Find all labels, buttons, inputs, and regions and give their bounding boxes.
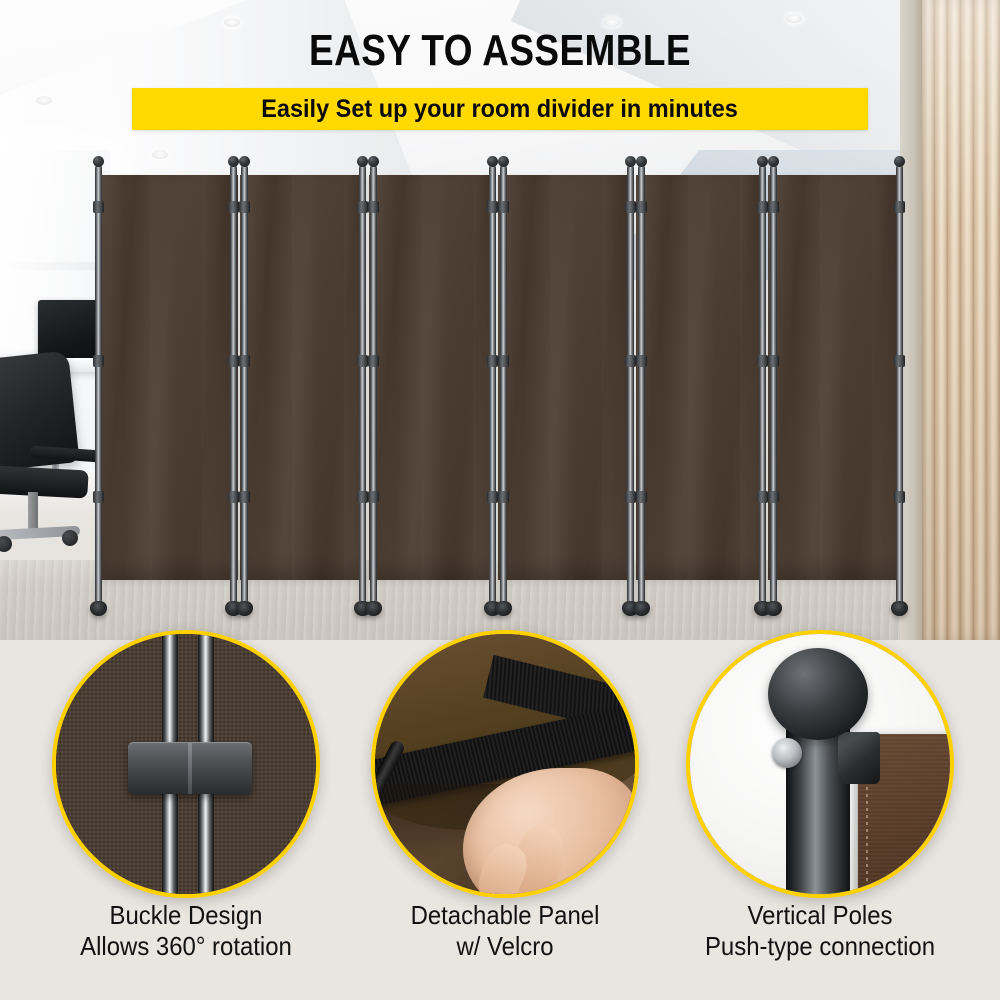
divider-pole <box>489 165 496 603</box>
pole-buckle-band <box>357 491 368 503</box>
pole-buckle-band <box>239 201 250 213</box>
pole-buckle-band <box>357 355 368 367</box>
divider-panel <box>369 175 495 580</box>
subtitle-text: Easily Set up your room divider in minut… <box>262 95 739 124</box>
pole-buckle-band <box>625 201 636 213</box>
caption-line-1: Detachable Panel <box>353 900 657 931</box>
divider-pole <box>230 165 237 603</box>
feature-inset-buckle <box>52 630 320 898</box>
pole-buckle-band <box>357 201 368 213</box>
pole-buckle-band <box>636 201 647 213</box>
pole-buckle-band <box>498 355 509 367</box>
pole-caster-foot <box>495 601 512 616</box>
feature-caption-velcro: Detachable Panel w/ Velcro <box>340 900 670 962</box>
pole-buckle-band <box>757 201 768 213</box>
divider-panel <box>98 175 238 580</box>
pole-buckle-band <box>93 491 104 503</box>
pole-buckle-band <box>768 201 779 213</box>
pole-ball-cap-icon <box>357 156 368 167</box>
pole-ball-cap-icon <box>894 156 905 167</box>
pole-buckle-band <box>228 355 239 367</box>
pole-buckle-band <box>757 491 768 503</box>
pole-caster-foot <box>90 601 107 616</box>
pole-ball-cap-icon <box>239 156 250 167</box>
pole-shaft <box>359 165 366 603</box>
pole-buckle-band <box>228 491 239 503</box>
divider-pole <box>638 165 645 603</box>
divider-pole <box>500 165 507 603</box>
pole-caster-foot <box>365 601 382 616</box>
pole-buckle-band <box>368 201 379 213</box>
pole-caster-foot <box>891 601 908 616</box>
divider-pole <box>241 165 248 603</box>
pole-shaft <box>627 165 634 603</box>
pole-caster-foot <box>633 601 650 616</box>
pole-ball-cap-icon <box>368 156 379 167</box>
pole-caster-foot <box>236 601 253 616</box>
buckle-clamp-icon <box>52 630 320 898</box>
pole-ball-cap-icon <box>768 156 779 167</box>
pole-clip <box>838 732 880 784</box>
pole-ball-cap-icon <box>625 156 636 167</box>
pole-shaft <box>638 165 645 603</box>
pole-buckle-band <box>894 201 905 213</box>
pole-buckle-band <box>894 491 905 503</box>
pole-ball-cap-icon <box>686 630 954 898</box>
pole-ball-cap-icon <box>228 156 239 167</box>
pole-shaft <box>500 165 507 603</box>
divider-pole <box>95 165 102 603</box>
pole-buckle-band <box>768 491 779 503</box>
pole-ball-cap-icon <box>757 156 768 167</box>
caption-line-1: Vertical Poles <box>668 900 972 931</box>
pole-buckle-band <box>93 355 104 367</box>
pole-shaft <box>489 165 496 603</box>
pole-caster-foot <box>765 601 782 616</box>
pole-shaft <box>896 165 903 603</box>
caption-line-2: Allows 360° rotation <box>34 931 338 962</box>
pole-buckle-band <box>487 355 498 367</box>
ball-finial <box>768 648 868 740</box>
pole-shaft <box>770 165 777 603</box>
pole-buckle-band <box>498 491 509 503</box>
caption-line-2: Push-type connection <box>668 931 972 962</box>
pole-buckle-band <box>498 201 509 213</box>
divider-pole <box>770 165 777 603</box>
pole-shaft <box>230 165 237 603</box>
caption-line-2: w/ Velcro <box>353 931 657 962</box>
product-marketing-image: EASY TO ASSEMBLE Easily Set up your room… <box>0 0 1000 1000</box>
pole-buckle-band <box>487 201 498 213</box>
pole-shaft <box>95 165 102 603</box>
divider-pole <box>359 165 366 603</box>
feature-inset-poles <box>686 630 954 898</box>
page-title: EASY TO ASSEMBLE <box>80 26 920 76</box>
pole-buckle-band <box>757 355 768 367</box>
pole-buckle-band <box>368 491 379 503</box>
divider-panel <box>636 175 764 580</box>
feature-caption-poles: Vertical Poles Push-type connection <box>655 900 985 962</box>
pole-buckle-band <box>625 355 636 367</box>
divider-panel <box>240 175 366 580</box>
pole-buckle-band <box>768 355 779 367</box>
pole-buckle-band <box>239 355 250 367</box>
pole-buckle-band <box>636 491 647 503</box>
pole-buckle-band <box>368 355 379 367</box>
pole-buckle-band <box>487 491 498 503</box>
caption-line-1: Buckle Design <box>34 900 338 931</box>
pole-buckle-band <box>228 201 239 213</box>
divider-pole <box>627 165 634 603</box>
pole-shaft <box>370 165 377 603</box>
pole-ball-cap-icon <box>498 156 509 167</box>
pole-buckle-band <box>239 491 250 503</box>
pole-buckle-band <box>636 355 647 367</box>
velcro-hand-icon <box>371 630 639 898</box>
pole-buckle-band <box>93 201 104 213</box>
divider-pole <box>370 165 377 603</box>
divider-pole <box>896 165 903 603</box>
pole-shaft <box>241 165 248 603</box>
pole-ball-cap-icon <box>487 156 498 167</box>
pole-ball-cap-icon <box>93 156 104 167</box>
feature-inset-velcro <box>371 630 639 898</box>
divider-panel <box>498 175 632 580</box>
buckle-seam <box>188 742 192 794</box>
pole-shaft <box>759 165 766 603</box>
divider-pole <box>759 165 766 603</box>
push-button <box>772 738 802 768</box>
divider-panel <box>768 175 900 580</box>
pole-buckle-band <box>625 491 636 503</box>
pole-buckle-band <box>894 355 905 367</box>
subtitle-banner: Easily Set up your room divider in minut… <box>132 88 868 130</box>
feature-caption-buckle: Buckle Design Allows 360° rotation <box>21 900 351 962</box>
pole-ball-cap-icon <box>636 156 647 167</box>
